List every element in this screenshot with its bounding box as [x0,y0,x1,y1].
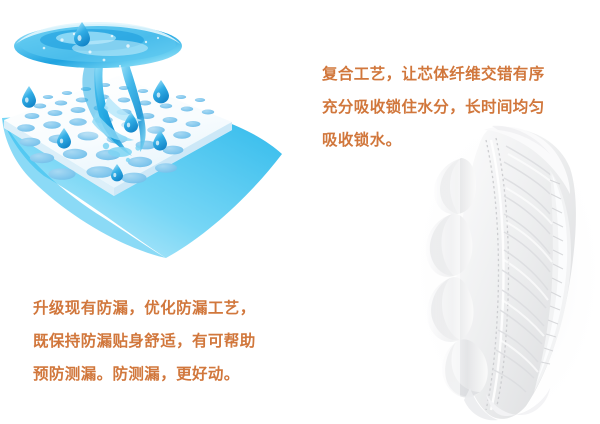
product-photo-leak-guard [400,122,600,424]
promo-page: 复合工艺，让芯体纤维交错有序 充分吸收锁住水分，长时间均匀 吸收锁水。 升级现有… [0,0,600,424]
copy-block-leak-guard: 升级现有防漏，优化防漏工艺， 既保持防漏贴身舒适，有可帮助 预防测漏。防测漏，更… [33,292,256,391]
copy-block-absorption: 复合工艺，让芯体纤维交错有序 充分吸收锁住水分，长时间均匀 吸收锁水。 [322,58,545,157]
copy-top-line-2: 充分吸收锁住水分，长时间均匀 [322,91,545,124]
copy-top-line-3: 吸收锁水。 [322,124,545,157]
copy-bottom-line-2: 既保持防漏贴身舒适，有可帮助 [33,325,256,358]
copy-top-line-1: 复合工艺，让芯体纤维交错有序 [322,58,545,91]
droplet-icon [153,80,169,103]
copy-bottom-line-3: 预防测漏。防测漏，更好动。 [33,358,256,391]
copy-bottom-line-1: 升级现有防漏，优化防漏工艺， [33,292,256,325]
droplet-icon [22,86,36,108]
water-absorption-illustration [0,0,300,270]
